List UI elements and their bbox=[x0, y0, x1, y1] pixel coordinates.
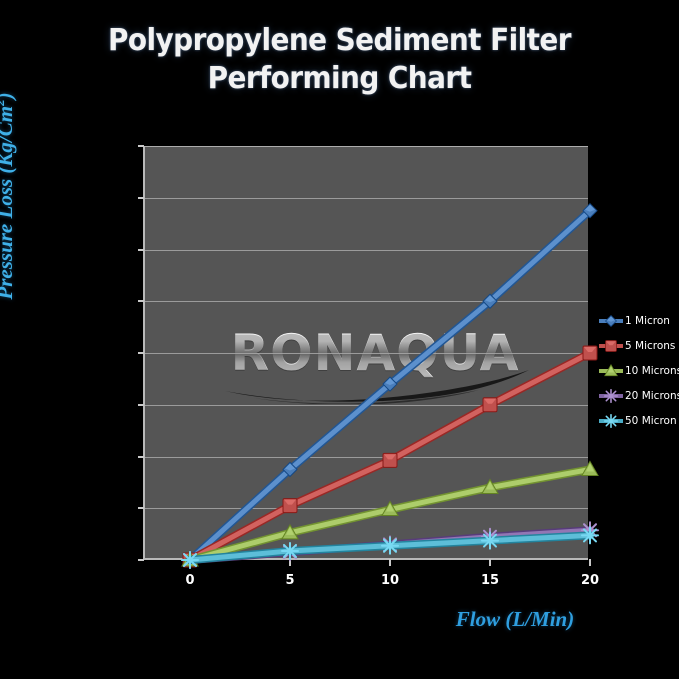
legend-marker-square-icon bbox=[598, 339, 624, 353]
legend-marker-asterisk-icon bbox=[598, 414, 624, 428]
y-axis-tick bbox=[138, 249, 144, 251]
legend-label: 50 Micron bbox=[625, 415, 677, 427]
legend-item-5-microns[interactable]: 5 Microns bbox=[598, 333, 679, 358]
data-point-marker-asterisk bbox=[482, 533, 498, 549]
x-axis-tick bbox=[389, 559, 391, 566]
x-axis-tick-label: 15 bbox=[481, 573, 499, 588]
data-point-marker-cross bbox=[605, 389, 617, 401]
legend-label: 20 Microns bbox=[625, 390, 679, 402]
y-axis-tick bbox=[138, 197, 144, 199]
y-axis-tick bbox=[138, 559, 144, 561]
legend-marker-triangle-icon bbox=[598, 364, 624, 378]
y-axis-title-text: Pressure Loss (Kg/Cm bbox=[0, 106, 17, 300]
data-point-marker-square bbox=[283, 499, 297, 513]
legend-marker-cross-icon bbox=[598, 389, 624, 403]
x-axis-tick-label: 0 bbox=[185, 573, 194, 588]
y-axis-title-superscript: 2 bbox=[0, 99, 7, 106]
x-axis-title: Flow (L/Min) bbox=[400, 607, 630, 632]
data-point-marker-square bbox=[383, 453, 397, 467]
legend-item-1-micron[interactable]: 1 Micron bbox=[598, 308, 679, 333]
y-axis-tick bbox=[138, 507, 144, 509]
y-axis-tick bbox=[138, 404, 144, 406]
x-axis-tick-label: 5 bbox=[285, 573, 294, 588]
title-line-1: Polypropylene Sediment Filter bbox=[24, 22, 655, 60]
x-axis-tick bbox=[489, 559, 491, 566]
x-axis-tick bbox=[589, 559, 591, 566]
legend-label: 5 Microns bbox=[625, 340, 675, 352]
y-axis-tick bbox=[138, 352, 144, 354]
data-point-marker-asterisk bbox=[282, 543, 298, 559]
legend-label: 10 Microns bbox=[625, 365, 679, 377]
plot-area: RONAQUA 00.020.040.060.080.10.120.140.16… bbox=[143, 146, 588, 560]
legend-item-10-microns[interactable]: 10 Microns bbox=[598, 358, 679, 383]
legend-item-50-micron[interactable]: 50 Micron bbox=[598, 408, 679, 433]
y-axis-tick bbox=[138, 456, 144, 458]
y-axis-tick bbox=[138, 145, 144, 147]
y-axis-tick bbox=[138, 300, 144, 302]
chart-page: Polypropylene Sediment Filter Performing… bbox=[0, 0, 679, 679]
data-point-marker-asterisk bbox=[582, 527, 598, 543]
y-axis-title: Pressure Loss (Kg/Cm2) bbox=[0, 36, 18, 356]
data-point-marker-asterisk bbox=[382, 538, 398, 554]
title-line-2: Performing Chart bbox=[24, 60, 655, 98]
data-point-marker-square bbox=[583, 346, 597, 360]
x-axis-tick-label: 10 bbox=[381, 573, 399, 588]
y-axis-title-close: ) bbox=[0, 92, 17, 99]
page-title: Polypropylene Sediment Filter Performing… bbox=[24, 22, 655, 98]
data-point-marker-diamond bbox=[606, 315, 617, 326]
x-axis-tick-label: 20 bbox=[581, 573, 599, 588]
legend-item-20-microns[interactable]: 20 Microns bbox=[598, 383, 679, 408]
data-point-marker-square bbox=[606, 340, 617, 351]
data-point-marker-square bbox=[483, 398, 497, 412]
legend-label: 1 Micron bbox=[625, 315, 670, 327]
data-series-layer bbox=[145, 146, 590, 560]
legend-marker-diamond-icon bbox=[598, 314, 624, 328]
chart-legend: 1 Micron5 Microns10 Microns20 Microns50 … bbox=[598, 308, 679, 433]
data-point-marker-asterisk bbox=[605, 414, 617, 426]
data-point-marker-asterisk bbox=[182, 552, 198, 568]
